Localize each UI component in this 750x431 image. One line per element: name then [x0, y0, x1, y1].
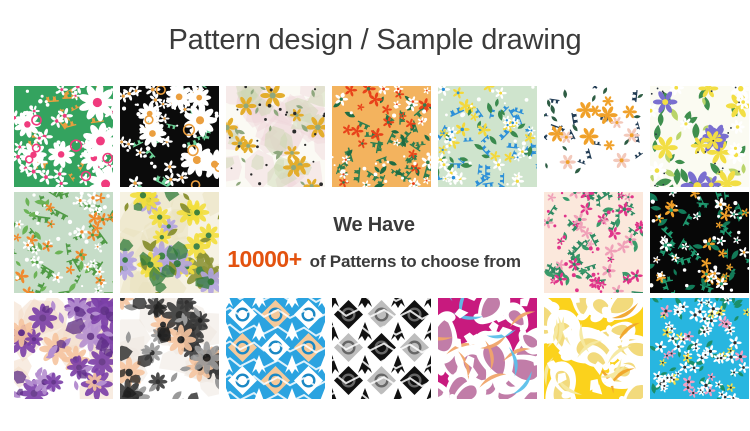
pattern-tile-black-gold-ditsy-floral[interactable]	[650, 192, 749, 293]
pattern-tile-blue-ikat-geometric[interactable]	[226, 298, 325, 399]
pattern-tile-black-white-ikat-geometric[interactable]	[332, 298, 431, 399]
pattern-tile-yellow-paisley-damask[interactable]	[544, 298, 643, 399]
pattern-tile-yellow-lilac-painterly[interactable]	[120, 192, 219, 293]
callout-subtext: of Patterns to choose from	[310, 252, 521, 272]
pattern-tile-cream-watercolor-floral[interactable]	[226, 86, 325, 187]
pattern-tile-magenta-paisley-damask[interactable]	[438, 298, 537, 399]
pattern-tile-orange-ditsy-floral[interactable]	[332, 86, 431, 187]
callout-count-row: 10000+ of Patterns to choose from	[227, 246, 521, 273]
pattern-tile-cyan-ditsy-floral[interactable]	[650, 298, 749, 399]
pattern-tile-mint-multicolor-floral[interactable]	[438, 86, 537, 187]
pattern-tile-white-sparse-floral[interactable]	[544, 86, 643, 187]
pattern-tile-blush-pink-ditsy-floral[interactable]	[544, 192, 643, 293]
pattern-tile-gray-peach-daisy[interactable]	[120, 298, 219, 399]
pattern-tile-purple-yellow-bouquet[interactable]	[650, 86, 749, 187]
callout-headline: We Have	[333, 214, 415, 236]
pattern-tile-black-daisy-floral[interactable]	[120, 86, 219, 187]
callout-panel: We Have 10000+ of Patterns to choose fro…	[226, 193, 522, 293]
pattern-count: 10000+	[227, 246, 301, 273]
pattern-tile-purple-peach-daisy[interactable]	[14, 298, 113, 399]
page-title: Pattern design / Sample drawing	[0, 24, 750, 57]
pattern-tile-sage-rose-floral[interactable]	[14, 192, 113, 293]
pattern-tile-green-daisy-floral[interactable]	[14, 86, 113, 187]
